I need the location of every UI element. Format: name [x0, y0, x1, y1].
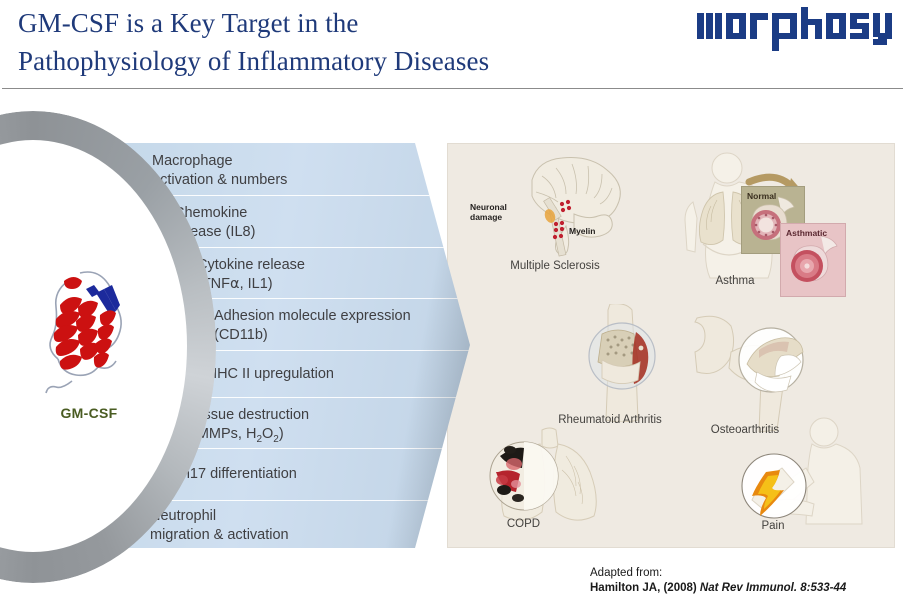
annotation-neuronal-damage: Neuronal damage — [470, 202, 507, 222]
caption-copd: COPD — [436, 518, 611, 530]
effect-label-7a: Th17 differentiation — [173, 465, 297, 484]
figure-asthma: Normal Asthmatic Asthma — [663, 148, 863, 303]
hip-joint-illustration — [683, 312, 843, 432]
effect-label-3a: Cytokine release — [197, 257, 305, 273]
label-normal: Normal — [747, 191, 776, 201]
title-divider — [2, 88, 903, 89]
citation-reference: Hamilton JA, (2008) Nat Rev Immunol. 8:5… — [590, 581, 905, 596]
caption-asthma: Asthma — [655, 275, 815, 287]
gmcsf-protein-structure: GM-CSF — [24, 263, 154, 453]
pathophysiology-diagram: Neuronal damage Myelin Multiple Sclerosi… — [10, 143, 895, 548]
protein-ribbon-icon — [34, 263, 144, 403]
citation-intro: Adapted from: — [590, 566, 905, 581]
effect-label-1a: Macrophage — [152, 153, 233, 169]
disease-panel: Neuronal damage Myelin Multiple Sclerosi… — [447, 143, 895, 548]
page-title-line-2: Pathophysiology of Inflammatory Diseases — [18, 42, 678, 80]
figure-multiple-sclerosis: Neuronal damage Myelin Multiple Sclerosi… — [470, 152, 640, 287]
pain-body-illustration — [706, 416, 896, 528]
copd-lungs-illustration — [466, 426, 641, 526]
effect-label-4b: (CD11b) — [214, 327, 268, 343]
figure-pain: Pain — [706, 416, 896, 544]
citation-authors: Hamilton JA, (2008) — [590, 582, 700, 594]
source-citation: Adapted from: Hamilton JA, (2008) Nat Re… — [590, 566, 905, 596]
figure-copd: COPD — [466, 426, 641, 544]
effect-label-6b: (MMPs, H2O2) — [192, 426, 284, 442]
page-title-line-1: GM-CSF is a Key Target in the — [18, 4, 678, 42]
slide-header: GM-CSF is a Key Target in the Pathophysi… — [0, 0, 905, 92]
label-asthmatic: Asthmatic — [786, 228, 827, 238]
citation-journal: Nat Rev Immunol. 8:533-44 — [700, 582, 846, 594]
caption-multiple-sclerosis: Multiple Sclerosis — [470, 260, 640, 272]
annotation-myelin: Myelin — [569, 226, 595, 236]
page-title: GM-CSF is a Key Target in the Pathophysi… — [18, 4, 678, 80]
effect-label-4a: Adhesion molecule expression — [214, 308, 411, 324]
caption-pain: Pain — [678, 520, 868, 532]
effect-label-1b: activation & numbers — [152, 172, 287, 188]
morphosys-logo — [695, 5, 895, 51]
protein-label: GM-CSF — [24, 405, 154, 421]
effect-label-6a: Tissue destruction — [192, 407, 309, 423]
effect-label-8b: migration & activation — [150, 527, 289, 543]
effect-label-5a: MHC II upregulation — [205, 365, 334, 384]
